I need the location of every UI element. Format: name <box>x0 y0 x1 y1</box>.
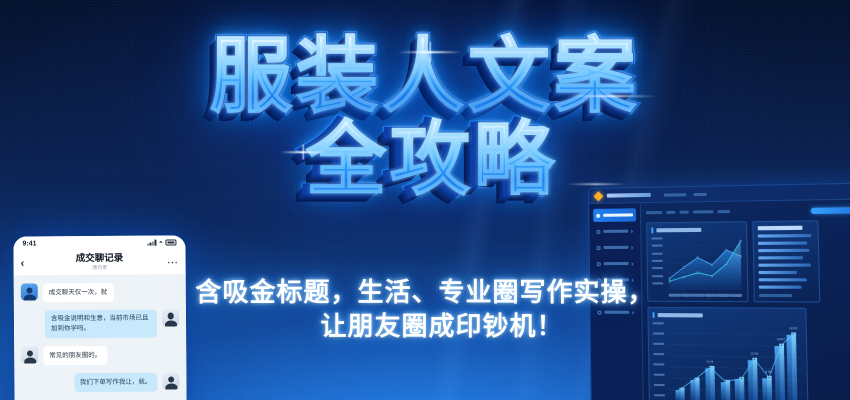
side-panel-row <box>759 286 801 289</box>
sidebar-item-settings[interactable] <box>594 306 637 320</box>
filter-chip[interactable] <box>679 211 688 214</box>
svg-text:8,367: 8,367 <box>766 370 773 374</box>
bullet-icon <box>596 213 600 217</box>
svg-text:19,533: 19,533 <box>789 327 798 331</box>
sidebar-item-label <box>604 278 629 281</box>
sidebar-item-customers[interactable] <box>594 289 637 302</box>
dashboard-brand-label <box>607 193 651 198</box>
line-chart-card <box>646 221 748 302</box>
bullet-icon <box>597 246 601 250</box>
line-chart-svg <box>667 237 743 290</box>
svg-text:16,817: 16,817 <box>777 338 786 342</box>
bar-chart-svg: 9,178 12,533 8,367 16,817 19,533 <box>668 322 803 400</box>
side-panel-title <box>758 226 803 231</box>
svg-text:9,178: 9,178 <box>707 360 714 364</box>
signal-bars-icon <box>147 240 156 246</box>
chat-message: 成交聊天仅一次，就 <box>21 282 179 302</box>
side-report-panel <box>752 220 820 302</box>
chevron-right-icon <box>632 310 634 314</box>
avatar <box>162 309 179 326</box>
side-panel-row <box>758 249 809 252</box>
sidebar-item-analysis[interactable] <box>594 273 637 286</box>
phone-status-bar: 9:41 ◓ <box>13 235 185 250</box>
phone-mockup: 9:41 ◓ ‹ 成交聊记录 通讯录 ⋯ 成交聊天仅一次，就 含吸金说明和生意，… <box>13 235 186 400</box>
bullet-icon <box>597 262 601 266</box>
side-panel-row <box>758 263 810 266</box>
dashboard-main: 9,178 12,533 8,367 16,817 19,533 <box>589 200 850 400</box>
bar-chart-header <box>653 312 802 319</box>
status-indicators: ◓ <box>147 239 176 246</box>
dashboard-topbar-menu[interactable] <box>664 192 707 196</box>
side-panel-row <box>758 241 807 244</box>
more-dots-icon[interactable]: ⋯ <box>167 255 179 268</box>
sidebar-item-overview[interactable] <box>593 208 636 222</box>
promo-banner: 9:41 ◓ ‹ 成交聊记录 通讯录 ⋯ 成交聊天仅一次，就 含吸金说明和生意，… <box>0 0 850 400</box>
bar-chart-plot: 9,178 12,533 8,367 16,817 19,533 <box>668 322 803 400</box>
bar-chart-y-axis <box>653 322 667 396</box>
chevron-right-icon <box>631 229 633 233</box>
bullet-icon <box>596 229 600 233</box>
bullet-icon <box>597 310 601 314</box>
sidebar-item-label <box>603 230 628 233</box>
filter-chip[interactable] <box>693 210 714 213</box>
line-chart-x-axis <box>669 294 743 298</box>
title-face-layer: 服装人文案 <box>210 29 640 124</box>
dashboard-upper-row <box>646 220 850 303</box>
sidebar-item-label <box>603 213 633 216</box>
title-glow-layer: 服装人文案 <box>0 36 850 118</box>
avatar <box>21 347 38 364</box>
side-panel-footer[interactable] <box>759 294 792 297</box>
dashboard-mockup: 9,178 12,533 8,367 16,817 19,533 <box>588 183 850 400</box>
avatar <box>162 372 179 389</box>
title-line-1: 服装人文案 服装人文案 服装人文案 <box>0 36 850 118</box>
bullet-icon <box>597 294 601 298</box>
chat-message: 我们下单写作我让，就。 <box>21 372 179 392</box>
chevron-right-icon <box>632 278 634 282</box>
title-face-layer: 全攻略 <box>306 113 558 206</box>
side-panel-row <box>758 234 811 238</box>
battery-icon <box>165 240 176 246</box>
chat-message: 含吸金说明和生意，当前市场已且加到你学吗。 <box>21 309 179 339</box>
diamond-logo-icon <box>594 191 604 201</box>
line-chart-y-axis <box>651 237 665 284</box>
title-extrusion-layer: 服装人文案 <box>0 36 850 118</box>
sidebar-item-business[interactable] <box>593 224 636 238</box>
filter-bar[interactable] <box>646 205 850 217</box>
bar-chart-title <box>658 313 703 317</box>
bullet-icon <box>597 278 601 282</box>
side-panel-row <box>758 256 802 259</box>
chat-message: 常见的朋友圈的。 <box>21 346 179 366</box>
avatar <box>21 283 38 300</box>
chevron-right-icon <box>631 245 633 249</box>
filter-chip[interactable] <box>718 210 731 213</box>
status-time: 9:41 <box>22 240 36 247</box>
message-bubble: 常见的朋友圈的。 <box>43 346 107 365</box>
line-chart-title <box>656 228 701 232</box>
bar-chart-card: 9,178 12,533 8,367 16,817 19,533 <box>647 307 808 400</box>
sidebar-item-label <box>604 262 629 265</box>
wifi-icon: ◓ <box>159 239 163 246</box>
sidebar-item-label <box>604 311 629 314</box>
message-bubble: 成交聊天仅一次，就 <box>43 283 114 302</box>
sidebar-item-statistics[interactable] <box>594 241 637 254</box>
line-chart-plot <box>667 237 743 290</box>
query-button[interactable] <box>811 206 850 213</box>
dashboard-content: 9,178 12,533 8,367 16,817 19,533 <box>641 200 850 400</box>
side-panel-row <box>759 278 807 281</box>
filter-chip[interactable] <box>666 211 675 214</box>
sidebar-item-label <box>604 294 629 297</box>
svg-text:12,533: 12,533 <box>750 352 759 356</box>
line-chart-header <box>651 226 742 233</box>
chevron-right-icon <box>632 262 634 266</box>
title-block: 服装人文案 服装人文案 服装人文案 全攻略 全攻略 全攻略 <box>0 36 850 200</box>
chat-subtitle: 通讯录 <box>76 265 124 271</box>
nav-title-group: 成交聊记录 通讯录 <box>76 254 124 271</box>
back-chevron-icon[interactable]: ‹ <box>21 257 25 269</box>
accent-bar-icon <box>651 227 653 233</box>
chat-title: 成交聊记录 <box>76 254 124 264</box>
message-bubble: 我们下单写作我让，就。 <box>74 373 158 392</box>
chat-thread[interactable]: 成交聊天仅一次，就 含吸金说明和生意，当前市场已且加到你学吗。 常见的朋友圈的。… <box>14 275 187 400</box>
filter-chip[interactable] <box>646 211 662 214</box>
chevron-right-icon <box>632 294 634 298</box>
side-panel-row <box>759 271 798 274</box>
message-bubble: 含吸金说明和生意，当前市场已且加到你学吗。 <box>45 309 157 338</box>
sidebar-item-operations[interactable] <box>594 257 637 270</box>
dashboard-sidebar[interactable] <box>589 203 644 400</box>
sidebar-item-label <box>604 246 629 249</box>
phone-nav-bar: ‹ 成交聊记录 通讯录 ⋯ <box>13 249 185 276</box>
accent-bar-icon <box>653 312 655 318</box>
